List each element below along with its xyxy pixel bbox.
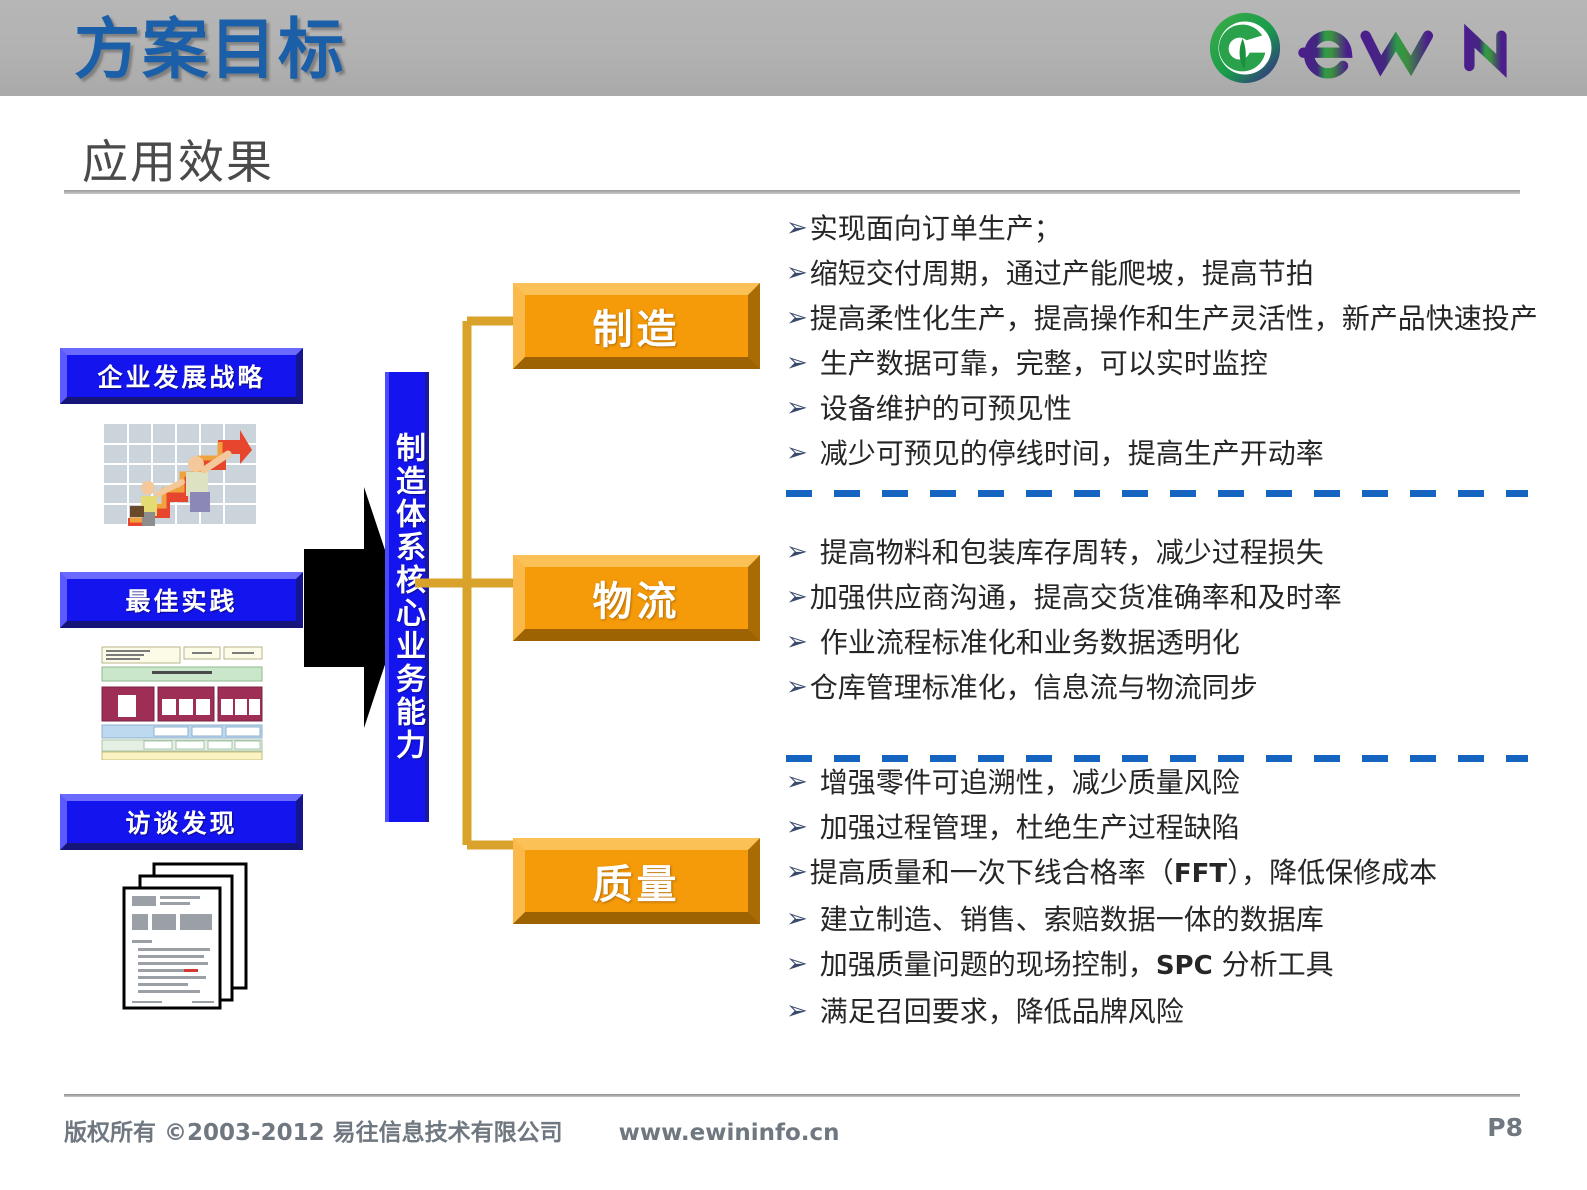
bullet-item: ➢加强供应商沟通，提高交货准确率和及时率	[786, 575, 1546, 620]
bullet-item: ➢增强零件可追溯性，减少质量风险	[786, 760, 1546, 805]
bullet-arrow-icon: ➢	[786, 251, 808, 296]
ewin-swirl-mark-icon	[1206, 9, 1284, 87]
subtitle-divider	[64, 190, 1520, 194]
bullet-item: ➢提高物料和包装库存周转，减少过程损失	[786, 530, 1546, 575]
bullet-item: ➢仓库管理标准化，信息流与物流同步	[786, 665, 1546, 710]
bullet-text: 提高质量和一次下线合格率（FFT），降低保修成本	[810, 850, 1437, 897]
bullet-arrow-icon: ➢	[786, 530, 808, 575]
page-title: 方案目标	[74, 4, 346, 96]
capability-box-manufacturing[interactable]: 制造	[513, 283, 760, 369]
slide-root: 方案目标	[0, 0, 1587, 1190]
footer-url[interactable]: www.ewininfo.cn	[619, 1120, 840, 1146]
input-box-label: 访谈发现	[125, 804, 237, 840]
bullet-text: 设备维护的可预见性	[820, 386, 1072, 431]
bullet-item: ➢设备维护的可预见性	[786, 386, 1546, 431]
bullet-text: 作业流程标准化和业务数据透明化	[820, 620, 1240, 665]
page-number: P8	[1487, 1113, 1523, 1142]
bullet-text: 建立制造、销售、索赔数据一体的数据库	[820, 897, 1324, 942]
bullet-text: 满足召回要求，降低品牌风险	[820, 989, 1184, 1034]
logistics-benefits-group: ➢提高物料和包装库存周转，减少过程损失➢加强供应商沟通，提高交货准确率和及时率➢…	[786, 530, 1546, 710]
bullet-item: ➢加强质量问题的现场控制，SPC 分析工具	[786, 942, 1546, 989]
capability-box-label: 质量	[593, 852, 681, 910]
input-box-interview-findings[interactable]: 访谈发现	[60, 794, 303, 850]
bullet-text: 加强过程管理，杜绝生产过程缺陷	[820, 805, 1240, 850]
input-box-label: 最佳实践	[125, 582, 237, 618]
bullet-item: ➢提高质量和一次下线合格率（FFT），降低保修成本	[786, 850, 1546, 897]
bullet-text: 缩短交付周期，通过产能爬坡，提高节拍	[810, 251, 1314, 296]
process-diagram-thumbnail	[100, 645, 265, 760]
capability-box-label: 制造	[593, 297, 681, 355]
bullet-arrow-icon: ➢	[786, 850, 808, 895]
bullet-item: ➢加强过程管理，杜绝生产过程缺陷	[786, 805, 1546, 850]
input-box-enterprise-strategy[interactable]: 企业发展战略	[60, 348, 303, 404]
bullet-arrow-icon: ➢	[786, 942, 808, 987]
bullet-arrow-icon: ➢	[786, 341, 808, 386]
bullet-arrow-icon: ➢	[786, 897, 808, 942]
bullet-text: 提高柔性化生产，提高操作和生产灵活性，新产品快速投产	[810, 296, 1538, 341]
section-subtitle: 应用效果	[82, 126, 274, 192]
bullet-text: 实现面向订单生产；	[810, 206, 1062, 251]
capability-box-logistics[interactable]: 物流	[513, 555, 760, 641]
bullet-arrow-icon: ➢	[786, 386, 808, 431]
bullet-item: ➢缩短交付周期，通过产能爬坡，提高节拍	[786, 251, 1546, 296]
bullet-arrow-icon: ➢	[786, 805, 808, 850]
bullet-text: 生产数据可靠，完整，可以实时监控	[820, 341, 1268, 386]
bullet-item: ➢实现面向订单生产；	[786, 206, 1546, 251]
bullet-arrow-icon: ➢	[786, 989, 808, 1034]
bullet-arrow-icon: ➢	[786, 431, 808, 476]
footer-copyright: 版权所有 ©2003-2012 易往信息技术有限公司	[64, 1120, 563, 1146]
bullet-arrow-icon: ➢	[786, 760, 808, 805]
bullet-arrow-icon: ➢	[786, 665, 808, 710]
bullet-arrow-icon: ➢	[786, 206, 808, 251]
quality-benefits-group: ➢增强零件可追溯性，减少质量风险➢加强过程管理，杜绝生产过程缺陷➢提高质量和一次…	[786, 760, 1546, 1034]
bullet-text: 减少可预见的停线时间，提高生产开动率	[820, 431, 1324, 476]
section-divider-1	[786, 490, 1528, 497]
manufacturing-benefits-group: ➢实现面向订单生产；➢缩短交付周期，通过产能爬坡，提高节拍➢提高柔性化生产，提高…	[786, 206, 1546, 476]
ewin-logo	[1197, 6, 1577, 90]
ewin-wordmark-icon	[1294, 15, 1577, 81]
capability-box-quality[interactable]: 质量	[513, 838, 760, 924]
bullet-item: ➢提高柔性化生产，提高操作和生产灵活性，新产品快速投产	[786, 296, 1546, 341]
footer-divider	[64, 1094, 1520, 1097]
bullet-text: 提高物料和包装库存周转，减少过程损失	[820, 530, 1324, 575]
bullet-text: 仓库管理标准化，信息流与物流同步	[810, 665, 1258, 710]
capability-box-label: 物流	[593, 569, 681, 627]
bullet-text: 增强零件可追溯性，减少质量风险	[820, 760, 1240, 805]
bullet-arrow-icon: ➢	[786, 575, 808, 620]
bullet-arrow-icon: ➢	[786, 296, 808, 341]
bullet-item: ➢作业流程标准化和业务数据透明化	[786, 620, 1546, 665]
bullet-item: ➢满足召回要求，降低品牌风险	[786, 989, 1546, 1034]
input-box-best-practice[interactable]: 最佳实践	[60, 572, 303, 628]
input-box-label: 企业发展战略	[97, 358, 265, 394]
bullet-text: 加强供应商沟通，提高交货准确率和及时率	[810, 575, 1342, 620]
bullet-item: ➢生产数据可靠，完整，可以实时监控	[786, 341, 1546, 386]
growth-chart-thumbnail	[100, 420, 260, 530]
bullet-item: ➢减少可预见的停线时间，提高生产开动率	[786, 431, 1546, 476]
bullet-item: ➢建立制造、销售、索赔数据一体的数据库	[786, 897, 1546, 942]
footer-copyright-row: 版权所有 ©2003-2012 易往信息技术有限公司 www.ewininfo.…	[64, 1113, 840, 1147]
bullet-text: 加强质量问题的现场控制，SPC 分析工具	[820, 942, 1334, 989]
documents-thumbnail	[110, 860, 260, 1010]
bullet-arrow-icon: ➢	[786, 620, 808, 665]
